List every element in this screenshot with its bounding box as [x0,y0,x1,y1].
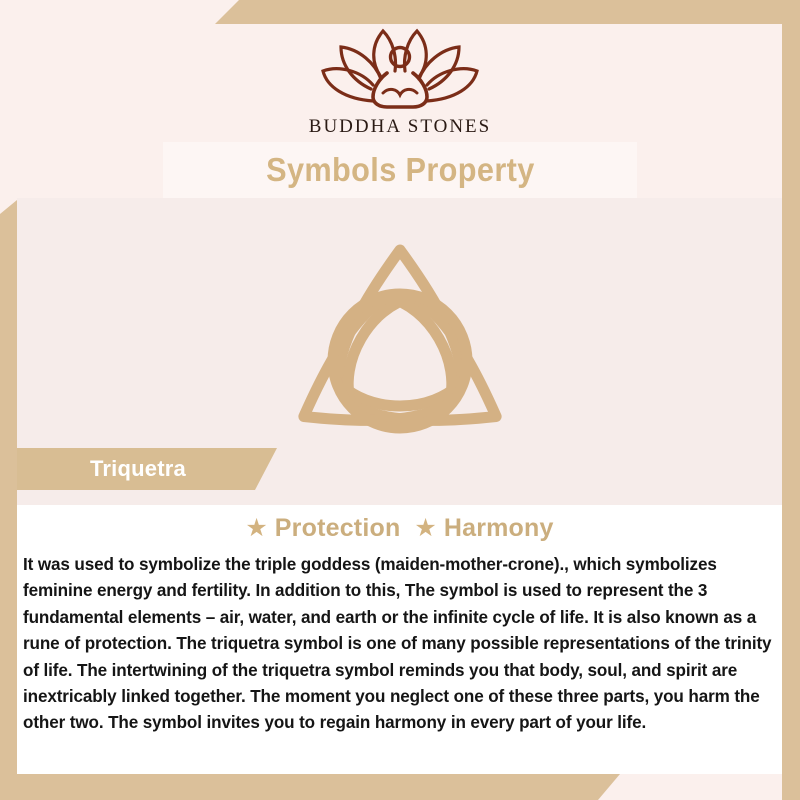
symbol-name-tab: Triquetra [17,448,277,490]
keyword-item-protection: ★ Protection [245,514,400,543]
keyword-label-harmony: Harmony [444,514,554,543]
gold-left-border [0,200,17,800]
description-text: It was used to symbolize the triple godd… [23,552,776,737]
keyword-item-harmony: ★ Harmony [414,514,553,543]
triquetra-icon [266,230,534,480]
star-icon: ★ [414,516,436,541]
star-icon: ★ [245,516,267,541]
brand-header: BUDDHA STONES [0,0,800,142]
brand-logo: BUDDHA STONES [309,23,491,138]
title-banner: Symbols Property [163,142,637,198]
description-card: ★ Protection ★ Harmony It was used to sy… [17,505,782,774]
gold-bottom-border [0,774,620,800]
brand-name: BUDDHA STONES [309,116,491,138]
symbol-property-card: BUDDHA STONES Symbols Property [0,0,800,800]
keyword-label-protection: Protection [275,514,401,543]
page-title: Symbols Property [266,151,535,189]
lotus-meditation-figure-icon [315,23,485,115]
symbol-name-label: Triquetra [90,456,186,482]
keyword-list: ★ Protection ★ Harmony [17,505,782,543]
